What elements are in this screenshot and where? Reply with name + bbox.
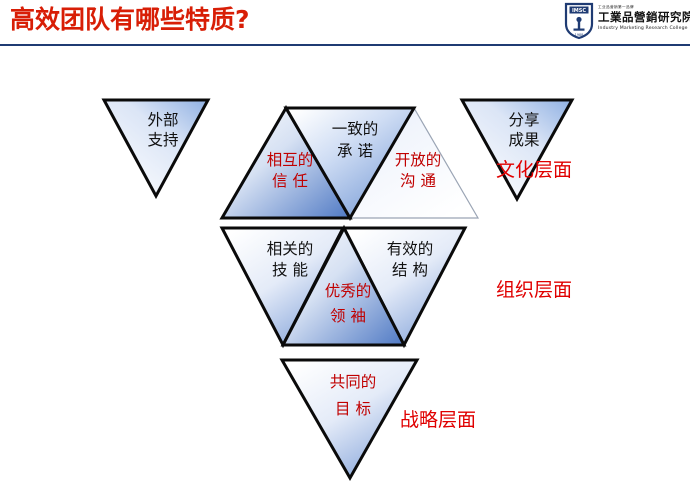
node-shared-results[interactable]: 分享 成果 [462,100,572,199]
node-external-support-label-2: 支持 [147,131,178,149]
node-external-support-label-1: 外部 [147,111,178,129]
svg-text:IMSC: IMSC [572,8,586,14]
node-excellent-leadership-label-2: 领 袖 [330,307,366,325]
slide-header: 高效团队有哪些特质? IMSC 1988 工业品营销第一品牌 工業品營銷研究院 … [0,0,690,46]
layer-label-culture: 文化层面 [496,159,572,181]
node-relevant-skills-label-2: 技 能 [272,261,308,279]
node-common-goal[interactable]: 共同的 目 标 [282,360,417,478]
logo-name-cn: 工業品營銷研究院 [598,10,682,25]
logo-text-block: 工业品营销第一品牌 工業品營銷研究院 Industry Marketing Re… [598,4,682,32]
logo-name-en: Industry Marketing Research College [598,25,682,32]
node-open-communication-label-1: 开放的 [395,151,442,169]
layer-label-strategy: 战略层面 [400,409,476,431]
node-effective-structure-label-2: 结 构 [392,261,428,279]
node-relevant-skills-label-1: 相关的 [267,240,314,258]
node-common-goal-label-2: 目 标 [335,400,371,418]
page-title: 高效团队有哪些特质? [10,3,250,37]
layer-label-organization: 组织层面 [496,279,572,301]
node-open-communication-label-2: 沟 通 [400,172,436,190]
node-shared-results-label-1: 分享 [508,111,539,129]
shield-icon: IMSC 1988 [564,2,594,40]
node-excellent-leadership-label-1: 优秀的 [325,282,372,300]
node-shared-commitment-label-1: 一致的 [332,120,379,138]
node-shared-commitment-label-2: 承 诺 [337,142,373,160]
svg-text:1988: 1988 [575,33,584,37]
node-effective-structure-label-1: 有效的 [387,240,434,258]
node-common-goal-label-1: 共同的 [330,373,377,391]
brand-logo: IMSC 1988 工业品营销第一品牌 工業品營銷研究院 Industry Ma… [564,2,682,42]
team-traits-pyramid-diagram: 外部 支持 分享 成果 开放的 沟 通 相互的 信 任 一致的 承 诺 相关的 … [0,46,690,495]
node-external-support[interactable]: 外部 支持 [104,100,208,196]
node-mutual-trust-label-2: 信 任 [272,172,308,190]
pyramid-svg: 外部 支持 分享 成果 开放的 沟 通 相互的 信 任 一致的 承 诺 相关的 … [0,46,690,495]
node-mutual-trust-label-1: 相互的 [267,151,314,169]
node-shared-results-label-2: 成果 [508,131,539,149]
